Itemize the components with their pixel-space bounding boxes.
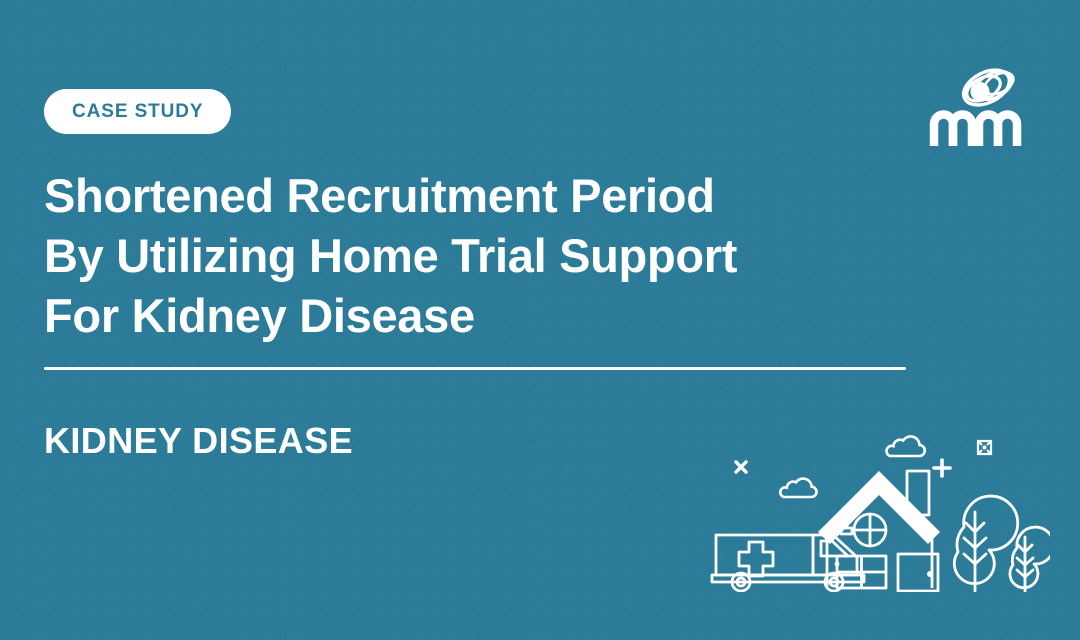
swirl-center-dot xyxy=(971,82,990,101)
therapeutic-area-label: KIDNEY DISEASE xyxy=(44,418,353,464)
sparkle-plus-icon xyxy=(934,460,950,476)
tree-small-icon xyxy=(1010,527,1050,591)
sparkle-x-icon xyxy=(736,462,746,472)
cloud-upper-icon xyxy=(886,436,924,456)
divider xyxy=(44,367,906,370)
page-title: Shortened Recruitment Period By Utilizin… xyxy=(44,166,914,346)
house-icon xyxy=(818,471,940,591)
headline-line-3: For Kidney Disease xyxy=(44,286,914,346)
case-study-badge: CASE STUDY xyxy=(44,89,231,134)
illustration-group xyxy=(694,424,1050,592)
headline-line-2: By Utilizing Home Trial Support xyxy=(44,226,914,286)
headline-line-1: Shortened Recruitment Period xyxy=(44,166,914,226)
cloud-small-icon xyxy=(780,479,816,497)
logo-wordmark-mrn xyxy=(934,115,1017,147)
brand-logo xyxy=(924,62,1036,152)
case-study-badge-label: CASE STUDY xyxy=(72,102,203,121)
case-study-banner: CASE STUDY Shortened Recruitment Period … xyxy=(0,0,1080,640)
tree-large-icon xyxy=(954,496,1017,591)
sparkle-diamond-icon xyxy=(978,441,991,454)
